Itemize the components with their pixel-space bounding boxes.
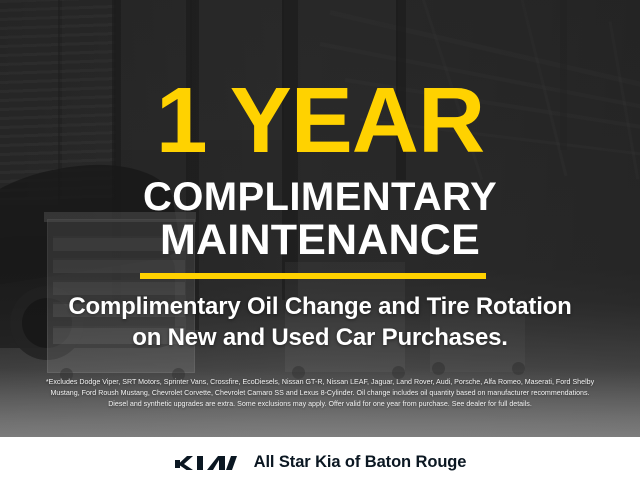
offer-description: Complimentary Oil Change and Tire Rotati… [0,292,640,353]
disclaimer-line-1: *Excludes Dodge Viper, SRT Motors, Sprin… [14,377,626,388]
disclaimer-line-2: Mustang, Ford Roush Mustang, Chevrolet C… [14,388,626,399]
yellow-divider [140,273,486,279]
disclaimer-line-3: Diesel and synthetic upgrades are extra.… [14,399,626,410]
footer-bar: All Star Kia of Baton Rouge [0,437,640,488]
kia-logo [174,453,238,473]
offer-description-line2: on New and Used Car Purchases. [0,323,640,354]
headline-year: 1 YEAR [0,74,640,167]
headline-maintenance: MAINTENANCE [0,218,640,264]
disclaimer-text: *Excludes Dodge Viper, SRT Motors, Sprin… [14,377,626,410]
promotional-banner: 1 YEAR COMPLIMENTARY MAINTENANCE Complim… [0,0,640,488]
banner-content: 1 YEAR COMPLIMENTARY MAINTENANCE Complim… [0,0,640,488]
headline-offer: COMPLIMENTARY MAINTENANCE [0,176,640,264]
headline-complimentary: COMPLIMENTARY [143,175,497,219]
offer-description-line1: Complimentary Oil Change and Tire Rotati… [0,292,640,323]
dealer-name: All Star Kia of Baton Rouge [254,453,467,472]
